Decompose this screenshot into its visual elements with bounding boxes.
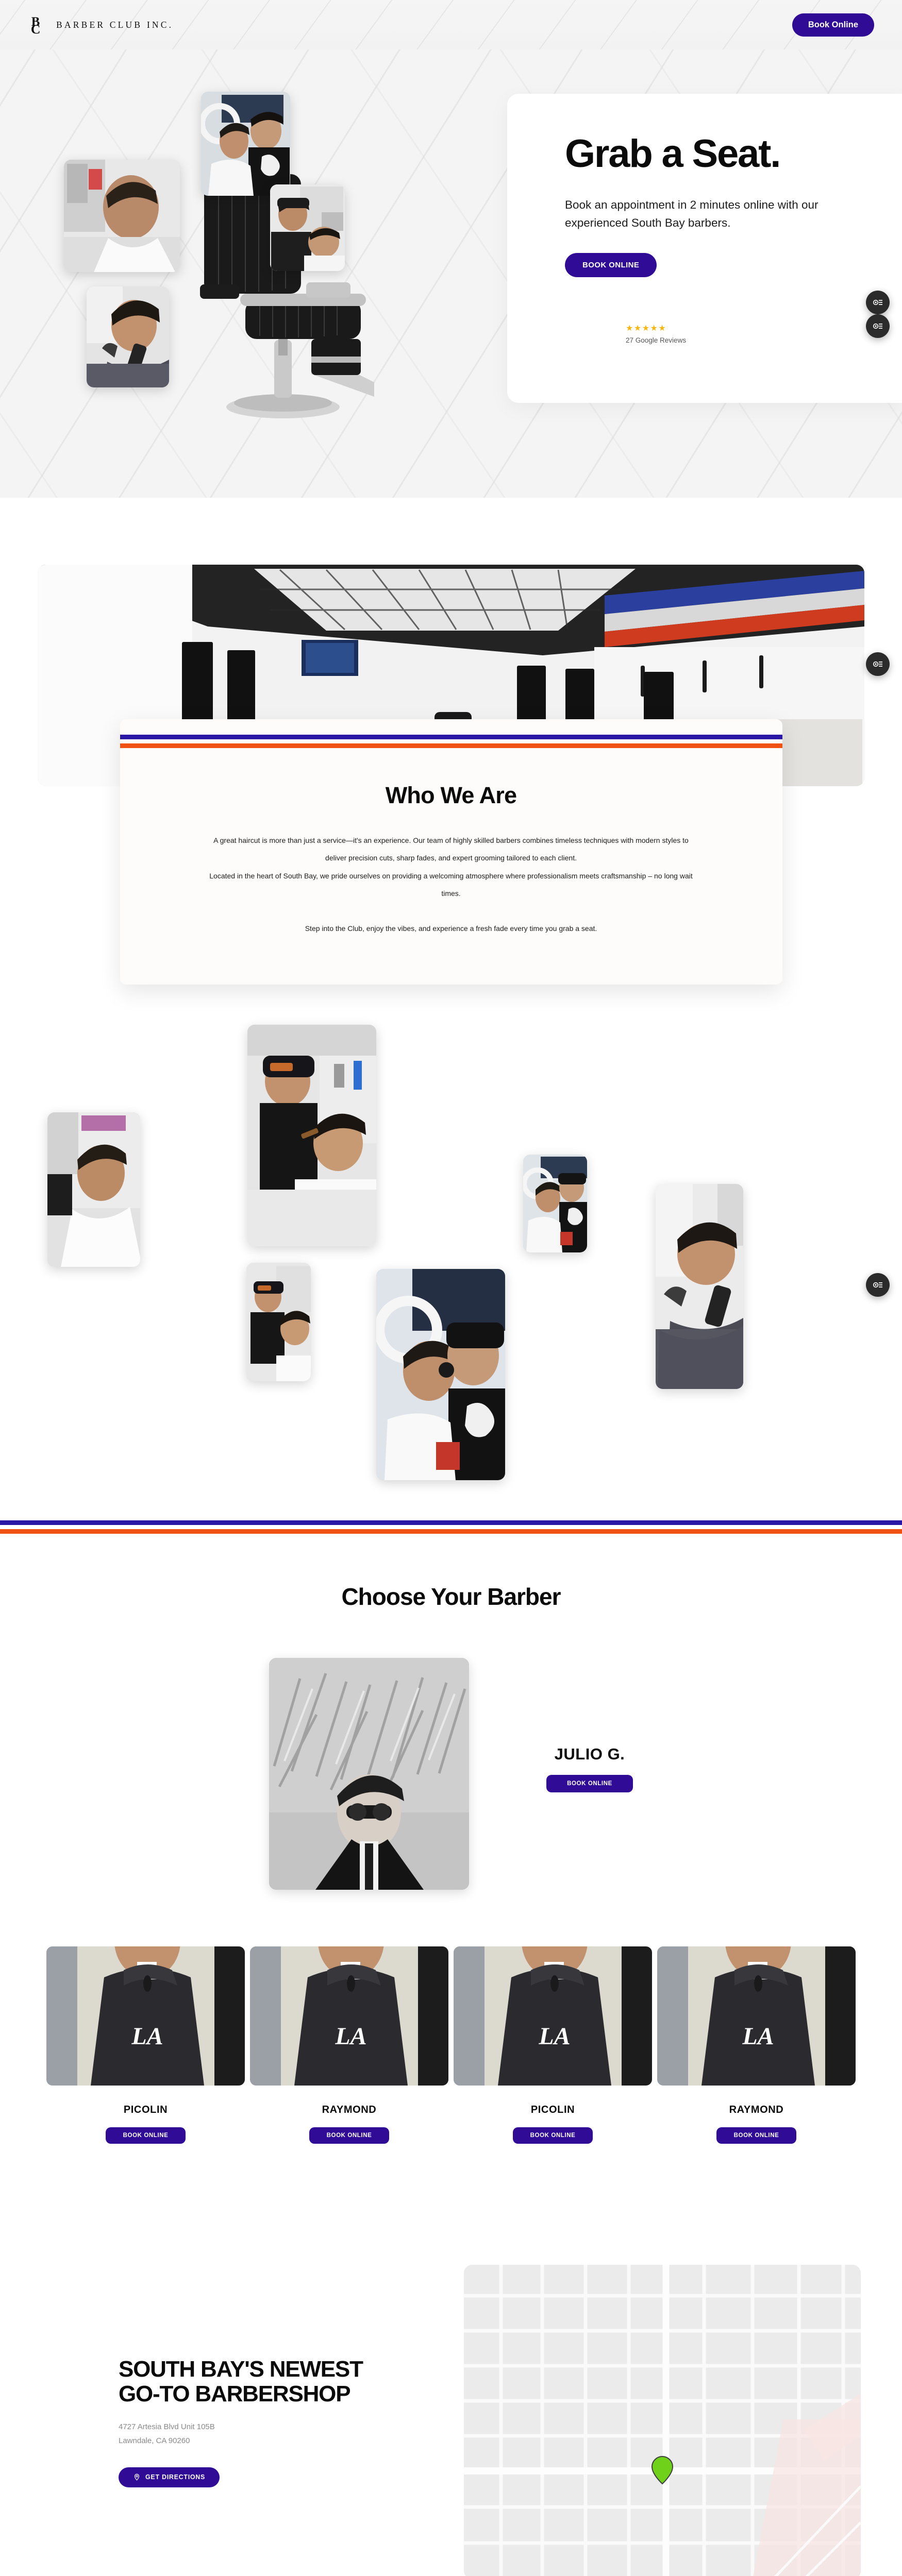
hero-text-panel: Grab a Seat. Book an appointment in 2 mi… — [507, 94, 902, 403]
hero-photo-1 — [64, 160, 180, 272]
gallery-photo-2 — [247, 1025, 376, 1246]
bc-monogram-icon: B C — [30, 14, 49, 36]
barber-card[interactable]: LA PICOLIN BOOK ONLINE — [46, 1946, 245, 2144]
gallery-photo-5 — [376, 1269, 505, 1480]
barber-pole-stripe-2 — [0, 1520, 902, 1534]
barber-photo: LA — [454, 1946, 652, 2086]
featured-barber-book-button[interactable]: BOOK ONLINE — [546, 1775, 633, 1792]
gallery-photo-4 — [523, 1155, 587, 1252]
accessibility-widget-button-2[interactable] — [866, 652, 890, 676]
google-reviews: ★★★★★ 27 Google Reviews — [626, 325, 902, 344]
svg-text:LA: LA — [335, 2023, 366, 2050]
barber-book-button[interactable]: BOOK ONLINE — [106, 2127, 186, 2144]
barber-card-grid: LA PICOLIN BOOK ONLINE — [0, 1946, 902, 2144]
who-paragraph-3: Step into the Club, enjoy the vibes, and… — [204, 920, 698, 937]
svg-text:LA: LA — [538, 2023, 570, 2050]
photo-gallery-section — [0, 1005, 902, 1520]
who-paragraph-2: Located in the heart of South Bay, we pr… — [204, 867, 698, 903]
svg-text:LA: LA — [131, 2023, 163, 2050]
who-we-are-title: Who We Are — [197, 782, 705, 809]
hero-subtitle: Book an appointment in 2 minutes online … — [565, 196, 823, 232]
barber-book-button[interactable]: BOOK ONLINE — [716, 2127, 797, 2144]
hero-photo-2 — [201, 92, 290, 196]
barber-name: PICOLIN — [46, 2104, 245, 2116]
barber-book-button[interactable]: BOOK ONLINE — [309, 2127, 390, 2144]
barber-card[interactable]: LA PICOLIN BOOK ONLINE — [454, 1946, 652, 2144]
featured-barber-name: JULIO G. — [546, 1745, 633, 1764]
landing-page: B C BARBER CLUB INC. Book Online — [0, 0, 902, 2576]
address-line-1: 4727 Artesia Blvd Unit 105B — [119, 2420, 397, 2434]
hero-photo-3 — [270, 184, 345, 271]
barber-book-button[interactable]: BOOK ONLINE — [513, 2127, 593, 2144]
barber-photo: LA — [657, 1946, 856, 2086]
svg-text:LA: LA — [742, 2023, 774, 2050]
address-line-2: Lawndale, CA 90260 — [119, 2434, 397, 2448]
brand-logo[interactable]: B C BARBER CLUB INC. — [30, 14, 173, 36]
hero-collage — [49, 81, 462, 437]
julio-g-photo — [269, 1658, 469, 1890]
map-pin-icon — [133, 2473, 141, 2481]
header-book-online-button[interactable]: Book Online — [792, 13, 874, 37]
reviews-count-label: 27 Google Reviews — [626, 336, 902, 344]
location-info: SOUTH BAY'S NEWEST GO-TO BARBERSHOP 4727… — [119, 2357, 397, 2487]
accessibility-widget-icon — [872, 320, 883, 332]
barber-pole-stripe — [120, 735, 782, 748]
hero-title: Grab a Seat. — [565, 134, 902, 174]
accessibility-widget-icon — [872, 297, 883, 308]
barber-name: RAYMOND — [657, 2104, 856, 2116]
hero-section: Grab a Seat. Book an appointment in 2 mi… — [0, 49, 902, 498]
barber-photo: LA — [250, 1946, 448, 2086]
svg-text:C: C — [31, 22, 41, 36]
location-section: SOUTH BAY'S NEWEST GO-TO BARBERSHOP 4727… — [0, 2185, 902, 2576]
who-we-are-body: A great haircut is more than just a serv… — [197, 832, 705, 937]
hero-book-online-button[interactable]: BOOK ONLINE — [565, 253, 657, 277]
accessibility-widget-icon — [872, 658, 883, 670]
location-map[interactable] — [464, 2265, 861, 2576]
barber-photo: LA — [46, 1946, 245, 2086]
barber-name: PICOLIN — [454, 2104, 652, 2116]
barber-name: RAYMOND — [250, 2104, 448, 2116]
star-rating-icon: ★★★★★ — [626, 325, 902, 333]
get-directions-button[interactable]: GET DIRECTIONS — [119, 2467, 220, 2487]
site-header: B C BARBER CLUB INC. Book Online — [0, 0, 902, 49]
who-we-are-card: Who We Are A great haircut is more than … — [120, 719, 782, 985]
brand-name: BARBER CLUB INC. — [56, 20, 173, 30]
location-address: 4727 Artesia Blvd Unit 105B Lawndale, CA… — [119, 2420, 397, 2448]
location-title: SOUTH BAY'S NEWEST GO-TO BARBERSHOP — [119, 2357, 397, 2406]
who-paragraph-1: A great haircut is more than just a serv… — [204, 832, 698, 867]
who-we-are-section: Who We Are A great haircut is more than … — [0, 498, 902, 1005]
gallery-photo-6 — [656, 1184, 743, 1389]
accessibility-widget-button[interactable] — [866, 291, 890, 314]
barber-card[interactable]: LA RAYMOND BOOK ONLINE — [250, 1946, 448, 2144]
get-directions-label: GET DIRECTIONS — [145, 2473, 205, 2481]
choose-barber-section: Choose Your Barber — [0, 1520, 902, 2185]
gallery-photo-3 — [246, 1263, 311, 1381]
choose-barber-title: Choose Your Barber — [0, 1583, 902, 1611]
featured-barber-info: JULIO G. BOOK ONLINE — [546, 1745, 633, 1803]
gallery-photo-1 — [47, 1112, 140, 1267]
featured-barber: JULIO G. BOOK ONLINE — [0, 1658, 902, 1890]
hero-photo-4 — [87, 286, 169, 387]
accessibility-widget-button-3[interactable] — [866, 1273, 890, 1297]
accessibility-widget-button-4[interactable] — [866, 314, 890, 338]
barber-card[interactable]: LA RAYMOND BOOK ONLINE — [657, 1946, 856, 2144]
accessibility-widget-icon — [872, 1279, 883, 1291]
